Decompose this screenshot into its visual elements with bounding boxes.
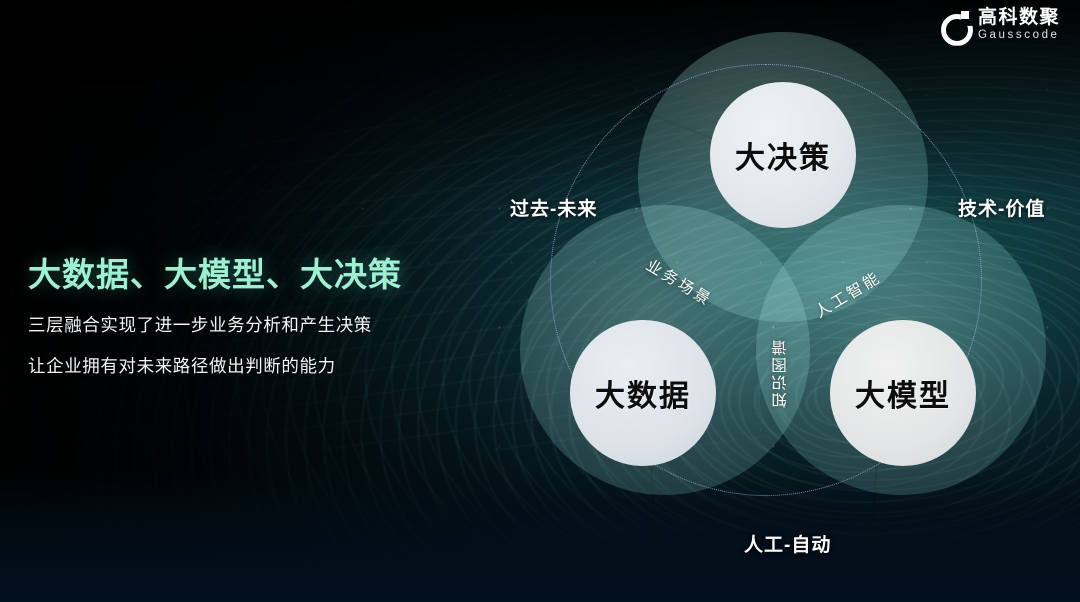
intersection-label-knowledge-graph: 知识图谱: [770, 338, 790, 408]
axis-label-past-future: 过去-未来: [510, 194, 597, 221]
subtitle-line-2: 让企业拥有对未来路径做出判断的能力: [28, 353, 402, 378]
axis-label-manual-automatic: 人工-自动: [744, 530, 831, 557]
copy-block: 大数据、大模型、大决策 三层融合实现了进一步业务分析和产生决策 让企业拥有对未来…: [28, 255, 402, 378]
venn-node-label-decision: 大决策: [735, 133, 831, 177]
page-title: 大数据、大模型、大决策: [28, 255, 402, 295]
venn-node-bigmodel: 大模型: [830, 320, 976, 466]
venn-node-bigdata: 大数据: [570, 320, 716, 466]
subtitle-line-1: 三层融合实现了进一步业务分析和产生决策: [28, 312, 402, 337]
venn-node-decision: 大决策: [710, 82, 856, 228]
venn-node-label-bigmodel: 大模型: [855, 371, 951, 415]
slide-canvas: 高科数聚 Gausscode 大数据、大模型、大决策 三层融合实现了进一步业务分…: [0, 0, 1080, 602]
venn-diagram: 业务场景 人工智能 知识图谱 大决策 大数据 大模型: [498, 20, 1058, 560]
venn-node-label-bigdata: 大数据: [595, 371, 691, 415]
axis-label-tech-value: 技术-价值: [958, 194, 1045, 221]
